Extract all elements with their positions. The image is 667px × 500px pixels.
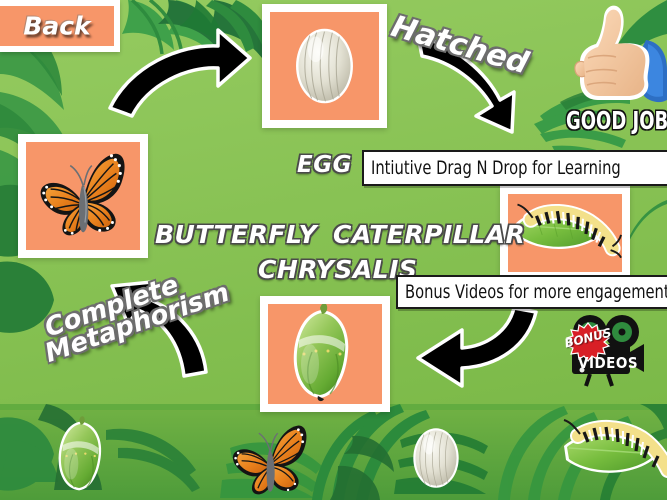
arrow-butterfly-to-egg [110,30,250,116]
chrysalis-card-inner [268,304,382,404]
arrow-caterpillar-to-chrysalis [418,308,536,386]
draggable-tray [0,404,667,500]
drag-drop-callout-text: Intiutive Drag N Drop for Learning [371,157,621,179]
bonus-videos-callout-text: Bonus Videos for more engagement [405,281,667,303]
egg-icon [397,418,475,498]
chrysalis-icon [268,304,382,404]
egg-card-inner [270,12,379,120]
app-stage: Back [0,0,667,500]
drag-drop-callout: Intiutive Drag N Drop for Learning [362,150,667,186]
tray-caterpillar[interactable] [556,410,667,494]
complete-metaphorism-label: Complete Metaphorism [42,258,233,364]
butterfly-icon [26,142,140,250]
butterfly-label: BUTTERFLY [155,220,317,249]
egg-label: EGG [297,152,352,178]
back-button-label: Back [0,12,114,41]
tray-butterfly[interactable] [222,416,318,500]
chrysalis-label: CHRYSALIS [258,255,417,284]
chrysalis-card[interactable] [260,296,390,412]
caterpillar-icon [556,410,667,494]
egg-card[interactable] [262,4,387,128]
egg-icon [270,12,379,120]
videos-label: VIDEOS [578,354,638,372]
chrysalis-icon [40,412,126,500]
hatched-label: Hatched [387,9,532,81]
bonus-videos-button[interactable]: BONUS VIDEOS [560,310,646,388]
butterfly-card-inner [26,142,140,250]
caterpillar-label: CATERPILLAR [333,220,525,249]
tray-egg[interactable] [397,418,475,498]
bonus-videos-callout: Bonus Videos for more engagement [396,275,667,309]
butterfly-card[interactable] [18,134,148,258]
good-job-label: GOOD JOB! [566,106,667,135]
thumbs-up-icon [560,0,667,120]
tray-chrysalis[interactable] [40,412,126,500]
butterfly-icon [222,416,318,500]
back-button[interactable]: Back [0,0,120,52]
